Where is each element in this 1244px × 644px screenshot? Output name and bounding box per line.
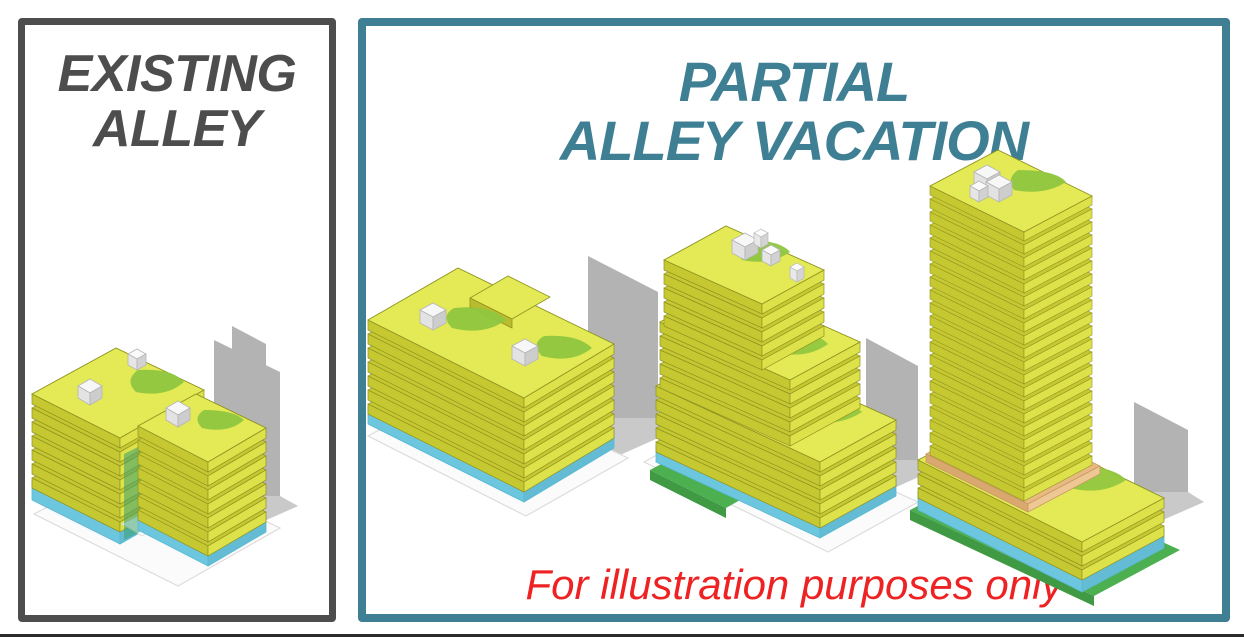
diagram-canvas: EXISTING ALLEY bbox=[0, 0, 1244, 644]
panel-existing-title: EXISTING ALLEY bbox=[25, 47, 329, 157]
vacation-massing-svg bbox=[358, 140, 1230, 620]
rooftop-unit-icon bbox=[128, 349, 146, 370]
rooftop-unit-icon bbox=[754, 229, 768, 248]
building-stepped-mid-rise bbox=[644, 226, 934, 552]
bottom-divider-rule bbox=[0, 634, 1244, 637]
illustration-partial-alley-vacation bbox=[358, 140, 1230, 620]
illustration-existing-alley bbox=[18, 300, 336, 620]
existing-alley-massing-svg bbox=[18, 300, 336, 620]
rooftop-unit-icon bbox=[970, 181, 988, 202]
rooftop-unit-icon bbox=[762, 245, 780, 266]
building-merged-low-rise bbox=[368, 256, 676, 516]
building-east-block bbox=[138, 394, 266, 566]
building-slender-tower bbox=[910, 150, 1204, 606]
rooftop-unit-icon bbox=[790, 263, 804, 282]
